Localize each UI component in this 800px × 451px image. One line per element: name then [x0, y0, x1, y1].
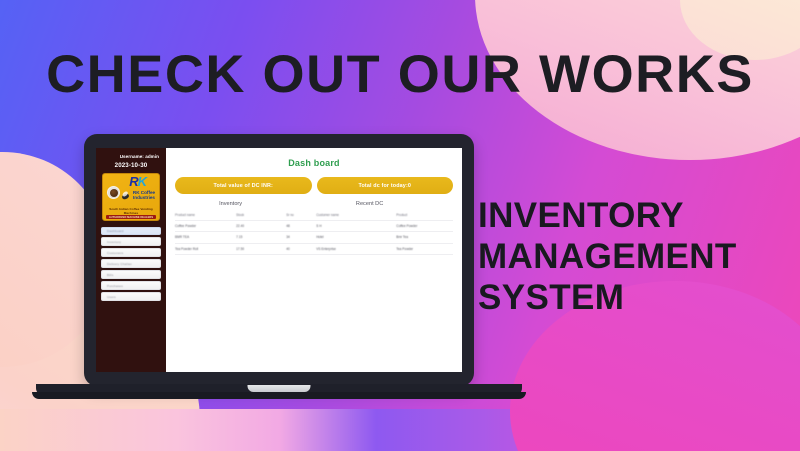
sidebar-item-delivery-challan[interactable]: Delivery Challan [101, 259, 161, 268]
table-row: 48 S H Coffee Powder [286, 221, 453, 232]
cell-product: Coffee Powder [396, 221, 453, 232]
summary-pills: Total value of DC INR: Total dc for toda… [166, 168, 462, 194]
company-logo: RK RK Coffee Industries South Indian Cof… [102, 173, 160, 221]
table-header-row: Product name Stock [175, 210, 286, 221]
bee-icon [121, 193, 129, 200]
logo-monogram-r: R [129, 174, 137, 189]
sidebar-username: Username: admin [101, 154, 161, 159]
recent-dc-table: Sr no Customer name Product 48 S H Coffe… [286, 210, 453, 255]
sidebar-item-dashboard[interactable]: Dashboard [101, 227, 161, 236]
laptop-screen: Username: admin 2023-10-30 RK RK Coffee … [96, 148, 462, 372]
cell-customer-name: VS Enterprise [316, 243, 396, 254]
sidebar-item-customers[interactable]: Customers [101, 248, 161, 257]
recent-dc-section: Recent DC Sr no Customer name Product [286, 201, 453, 255]
column-product-name: Product name [175, 210, 236, 221]
cell-product-name: Tea Powder Roll [175, 243, 236, 254]
inventory-table: Product name Stock Coffee Powder 22.40 [175, 210, 286, 255]
table-row: Tea Powder Roll 17.50 [175, 243, 286, 254]
cell-product-name: BMR TEA [175, 232, 236, 243]
inventory-section: Inventory Product name Stock Coffee P [175, 201, 286, 255]
caption-line-2: MANAGEMENT [478, 237, 778, 278]
dashboard-sections: Inventory Product name Stock Coffee P [166, 201, 462, 255]
table-row: Coffee Powder 22.40 [175, 221, 286, 232]
cell-product-name: Coffee Powder [175, 221, 236, 232]
page-title: Dash board [166, 158, 462, 168]
inventory-section-title: Inventory [175, 201, 286, 210]
sidebar-item-label: Purchases [107, 284, 123, 288]
cell-stock: 22.40 [236, 221, 286, 232]
logo-monogram: RK [129, 175, 146, 188]
table-row: 34 Hotel Bmr Tea [286, 232, 453, 243]
cell-sr-no: 48 [286, 221, 316, 232]
cell-product: Tea Powder [396, 243, 453, 254]
app-sidebar: Username: admin 2023-10-30 RK RK Coffee … [96, 148, 166, 372]
sidebar-item-users[interactable]: Users [101, 292, 161, 301]
cell-stock: 7.15 [236, 232, 286, 243]
sidebar-item-inventory[interactable]: Inventory [101, 237, 161, 246]
cell-product: Bmr Tea [396, 232, 453, 243]
logo-monogram-k: K [138, 174, 146, 189]
cell-customer-name: Hotel [316, 232, 396, 243]
column-sr-no: Sr no [286, 210, 316, 221]
app-main: Dash board Total value of DC INR: Total … [166, 148, 462, 372]
column-customer-name: Customer name [316, 210, 396, 221]
sidebar-item-label: Users [107, 295, 116, 299]
coffee-cup-icon [107, 186, 120, 199]
sidebar-item-label: Delivery Challan [107, 262, 132, 266]
cell-sr-no: 40 [286, 243, 316, 254]
laptop-trackpad-notch [248, 385, 311, 392]
sidebar-item-purchases[interactable]: Purchases [101, 281, 161, 290]
pill-total-dc-today[interactable]: Total dc for today:0 [317, 177, 454, 194]
logo-brand-name: RK Coffee Industries [131, 190, 157, 200]
recent-dc-section-title: Recent DC [286, 201, 453, 210]
laptop-lid: Username: admin 2023-10-30 RK RK Coffee … [84, 134, 474, 386]
laptop-mockup: Username: admin 2023-10-30 RK RK Coffee … [84, 134, 474, 386]
cell-customer-name: S H [316, 221, 396, 232]
sidebar-item-label: Inventory [107, 240, 121, 244]
cell-stock: 17.50 [236, 243, 286, 254]
cell-sr-no: 34 [286, 232, 316, 243]
laptop-foot [32, 392, 526, 399]
logo-tagline: South Indian Coffee Vending Machines [103, 207, 159, 215]
table-row: 40 VS Enterprise Tea Powder [286, 243, 453, 254]
sidebar-item-label: Bills [107, 273, 113, 277]
caption-line-1: INVENTORY [478, 196, 778, 237]
pill-total-dc-value[interactable]: Total value of DC INR: [175, 177, 312, 194]
sidebar-date: 2023-10-30 [101, 162, 161, 169]
column-stock: Stock [236, 210, 286, 221]
table-row: BMR TEA 7.15 [175, 232, 286, 243]
sidebar-nav: Dashboard Inventory Customers Delivery C… [101, 227, 161, 302]
caption-line-3: SYSTEM [478, 278, 778, 319]
column-product: Product [396, 210, 453, 221]
logo-dealer-strip: AUTHORIZED MACHINE DEALERS [106, 215, 156, 219]
poster-caption: INVENTORY MANAGEMENT SYSTEM [478, 196, 778, 319]
poster-headline: CHECK OUT OUR WORKS [0, 44, 800, 105]
sidebar-item-label: Customers [107, 251, 123, 255]
sidebar-item-label: Dashboard [107, 229, 124, 233]
table-header-row: Sr no Customer name Product [286, 210, 453, 221]
sidebar-item-bills[interactable]: Bills [101, 270, 161, 279]
